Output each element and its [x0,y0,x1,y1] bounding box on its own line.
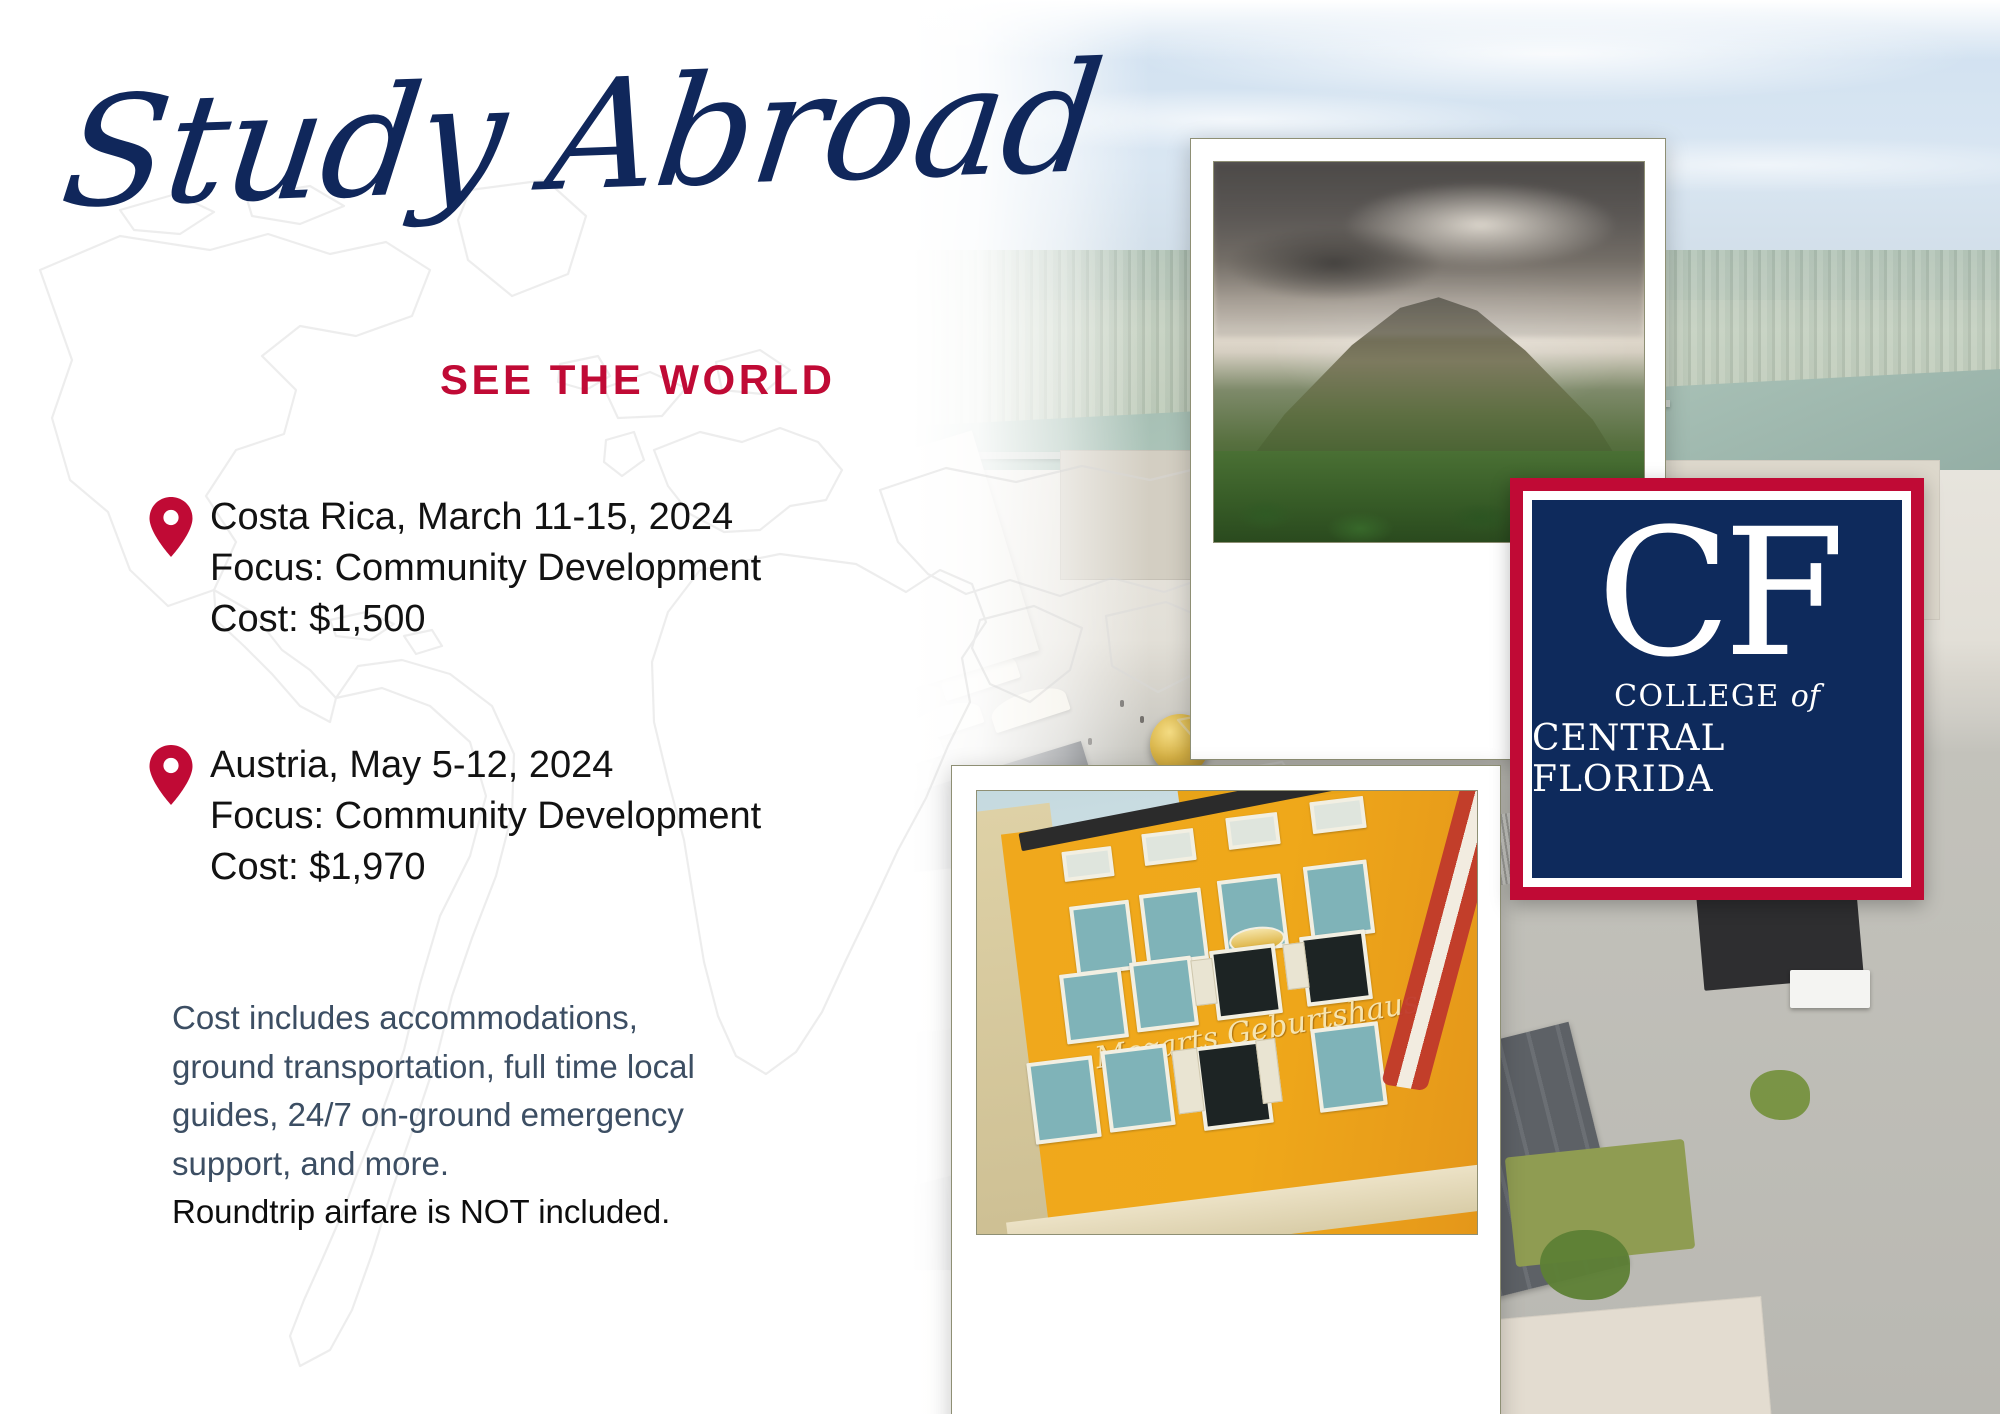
logo-monogram: CF [1597,518,1838,669]
window [1310,1021,1388,1113]
logo-of-word: of [1791,679,1820,714]
page-subtitle: SEE THE WORLD [440,356,836,404]
logo-white-band: CF COLLEGE of CENTRAL FLORIDA [1523,491,1911,887]
airfare-disclaimer: Roundtrip airfare is NOT included. [172,1188,812,1237]
tree [1750,1070,1810,1120]
window [1069,900,1137,977]
service-truck [1790,970,1870,1008]
trip-cost: Cost: $1,500 [210,594,761,645]
logo-navy-field: CF COLLEGE of CENTRAL FLORIDA [1532,500,1902,878]
logo-line-central-florida: CENTRAL FLORIDA [1532,718,1902,800]
note-line: Cost includes accommodations, [172,994,812,1043]
page-title: Study Abroad [55,42,1109,230]
window [1059,967,1129,1044]
note-line: guides, 24/7 on-ground emergency [172,1091,812,1140]
note-line: ground transportation, full time local [172,1043,812,1092]
mozart-birthplace-photo: Mozarts Geburtshaus [976,790,1478,1235]
map-pin-icon [148,496,194,558]
trip-entry-austria: Austria, May 5-12, 2024 Focus: Community… [148,740,761,893]
window [1100,1043,1176,1132]
logo-college-word: COLLEGE [1614,679,1780,714]
trip-focus: Focus: Community Development [210,543,761,594]
trip-destination: Austria, May 5-12, 2024 [210,740,761,791]
tree [1540,1230,1630,1300]
attic-window [1061,846,1114,882]
attic-window [1225,812,1281,850]
window [1129,955,1199,1032]
study-abroad-poster: Study Abroad SEE THE WORLD Costa Rica, M… [0,0,2000,1414]
note-line: support, and more. [172,1140,812,1189]
attic-window [1141,828,1197,866]
cost-inclusions-note: Cost includes accommodations, ground tra… [172,994,812,1237]
logo-line-college-of: COLLEGE of [1614,679,1820,714]
mozart-polaroid: Mozarts Geburtshaus [951,765,1501,1414]
college-of-central-florida-logo: CF COLLEGE of CENTRAL FLORIDA [1510,478,1924,900]
window [1026,1055,1102,1144]
trip-entry-costa-rica: Costa Rica, March 11-15, 2024 Focus: Com… [148,492,761,645]
window [1303,859,1376,940]
window [1139,887,1209,966]
map-pin-icon [148,744,194,806]
trip-focus: Focus: Community Development [210,791,761,842]
trip-destination: Costa Rica, March 11-15, 2024 [210,492,761,543]
cloud-cap [1214,162,1644,337]
trip-cost: Cost: $1,970 [210,842,761,893]
mozart-image-base: Mozarts Geburtshaus [977,791,1477,1234]
attic-window [1309,796,1366,834]
